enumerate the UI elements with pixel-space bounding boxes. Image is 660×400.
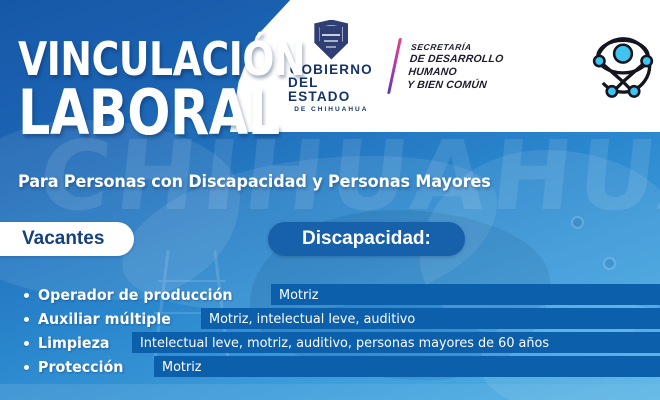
bottom-strip [0, 384, 660, 400]
title-line-2: LABORAL [18, 84, 305, 141]
job-title: Operador de producción [38, 286, 233, 304]
poster-root: CHIHUAHUA GOBIERNO DE [0, 0, 660, 400]
disability-text: Intelectual leve, motriz, auditivo, pers… [140, 335, 549, 351]
bullet-icon [24, 341, 29, 346]
flower-icon [560, 205, 594, 239]
vacancy-list: MotrizOperador de producciónMotriz, inte… [24, 283, 660, 379]
secretaria-line3: Y BIEN COMÚN [407, 79, 537, 92]
bullet-icon [24, 293, 29, 298]
job-title: Auxiliar múltiple [38, 310, 171, 328]
disability-highlight-bar: Motriz [154, 356, 660, 377]
divider-slash [387, 38, 402, 94]
disability-text: Motriz [279, 287, 319, 303]
disability-text: Motriz, intelectual leve, auditivo [209, 311, 415, 327]
vacantes-header-pill: Vacantes [0, 222, 134, 256]
page-subtitle: Para Personas con Discapacidad y Persona… [18, 172, 491, 191]
bullet-icon [24, 365, 29, 370]
disability-highlight-bar: Intelectual leve, motriz, auditivo, pers… [132, 332, 660, 353]
list-item: MotrizProtección [24, 355, 660, 379]
list-item: Motriz, intelectual leve, auditivoAuxili… [24, 307, 660, 331]
secretaria-logo: SECRETARÍA DE DESARROLLO HUMANO Y BIEN C… [407, 41, 541, 92]
list-item: Intelectual leve, motriz, auditivo, pers… [24, 331, 660, 355]
disability-text: Motriz [162, 359, 202, 375]
secretaria-line1: SECRETARÍA [411, 41, 541, 53]
job-title: Protección [38, 358, 123, 376]
discapacidad-header-pill: Discapacidad: [268, 222, 465, 256]
bullet-icon [24, 317, 29, 322]
list-item: MotrizOperador de producción [24, 283, 660, 307]
job-title: Limpieza [38, 334, 109, 352]
atom-network-icon [586, 27, 660, 106]
title-line-1: VINCULACIÓN [18, 38, 305, 80]
secretaria-line2: DE DESARROLLO HUMANO [408, 53, 539, 79]
page-title: VINCULACIÓN LABORAL [18, 38, 368, 141]
disability-highlight-bar: Motriz [271, 284, 660, 305]
disability-highlight-bar: Motriz, intelectual leve, auditivo [201, 308, 660, 329]
flower-icon [596, 250, 622, 276]
